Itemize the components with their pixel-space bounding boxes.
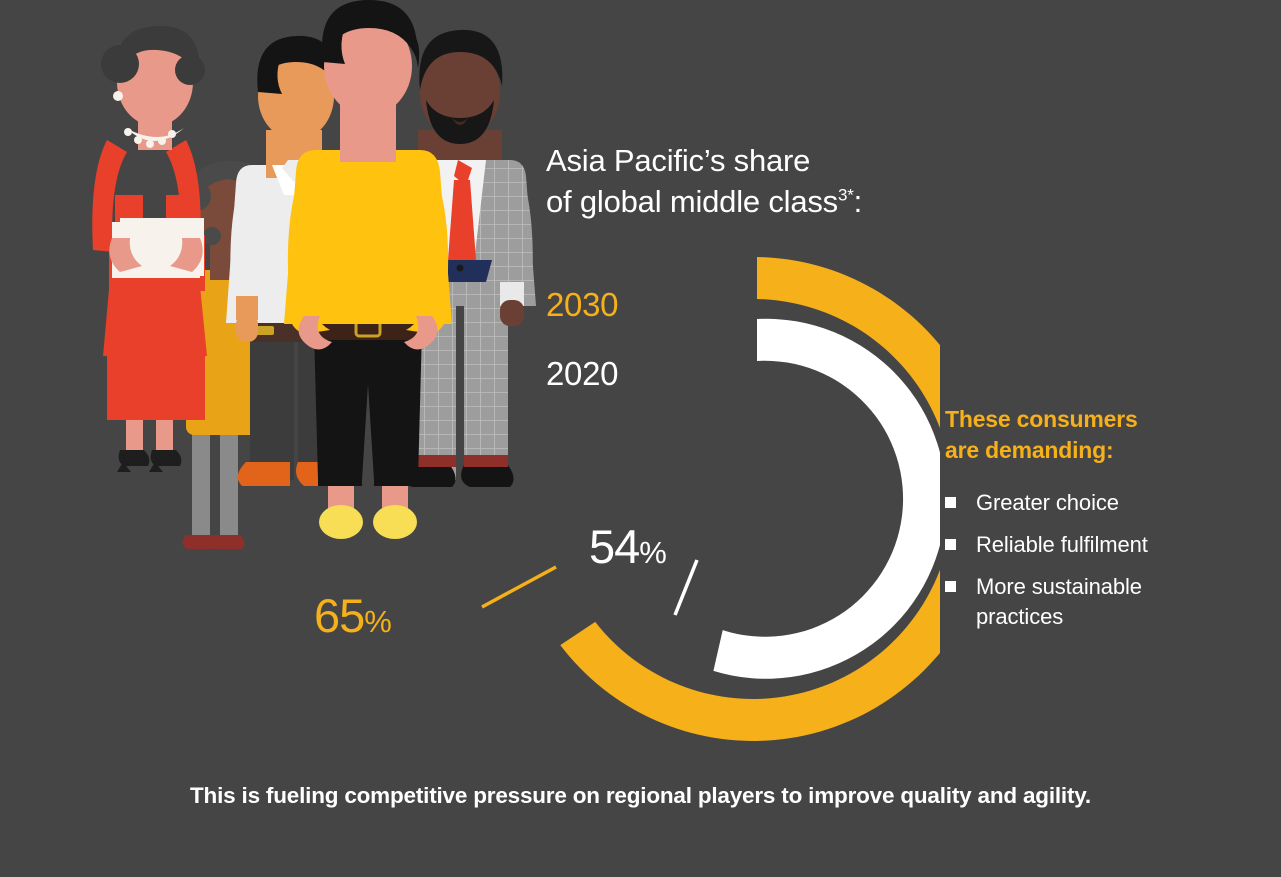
square-bullet-icon	[945, 581, 956, 592]
list-item-label: Reliable fulfilment	[976, 530, 1148, 560]
value-label-2030: 65%	[314, 588, 391, 643]
consumer-demands-panel: These consumers are demanding: Greater c…	[945, 404, 1205, 644]
demands-heading-line-1: These consumers	[945, 406, 1138, 432]
headline-line-1: Asia Pacific’s share	[546, 143, 810, 178]
leader-line-2030	[482, 567, 556, 607]
leader-line-2020	[675, 560, 697, 615]
headline-colon: :	[854, 184, 862, 219]
headline-line-2: of global middle class	[546, 184, 838, 219]
value-number-2020: 54	[589, 520, 639, 573]
footer-caption: This is fueling competitive pressure on …	[0, 783, 1281, 809]
list-item-label: Greater choice	[976, 488, 1119, 518]
value-label-2020: 54%	[589, 519, 666, 574]
list-item: Reliable fulfilment	[945, 530, 1205, 560]
square-bullet-icon	[945, 497, 956, 508]
square-bullet-icon	[945, 539, 956, 550]
list-item: More sustainable practices	[945, 572, 1205, 632]
figure-woman-red-dress	[92, 26, 207, 472]
infographic-slide: Asia Pacific’s share of global middle cl…	[0, 0, 1281, 877]
page-title: Asia Pacific’s share of global middle cl…	[546, 140, 966, 222]
value-number-2030: 65	[314, 589, 364, 642]
demands-heading: These consumers are demanding:	[945, 404, 1205, 466]
arc-2020-inner	[713, 319, 940, 679]
list-item-label: More sustainable practices	[976, 572, 1205, 632]
legend-label-2020: 2020	[546, 355, 618, 393]
concentric-donut-chart	[300, 255, 940, 755]
value-unit-2030: %	[364, 604, 391, 639]
value-unit-2020: %	[639, 535, 666, 570]
demands-heading-line-2: are demanding:	[945, 437, 1113, 463]
headline-footnote-marker: 3*	[838, 186, 854, 205]
legend-label-2030: 2030	[546, 286, 618, 324]
list-item: Greater choice	[945, 488, 1205, 518]
